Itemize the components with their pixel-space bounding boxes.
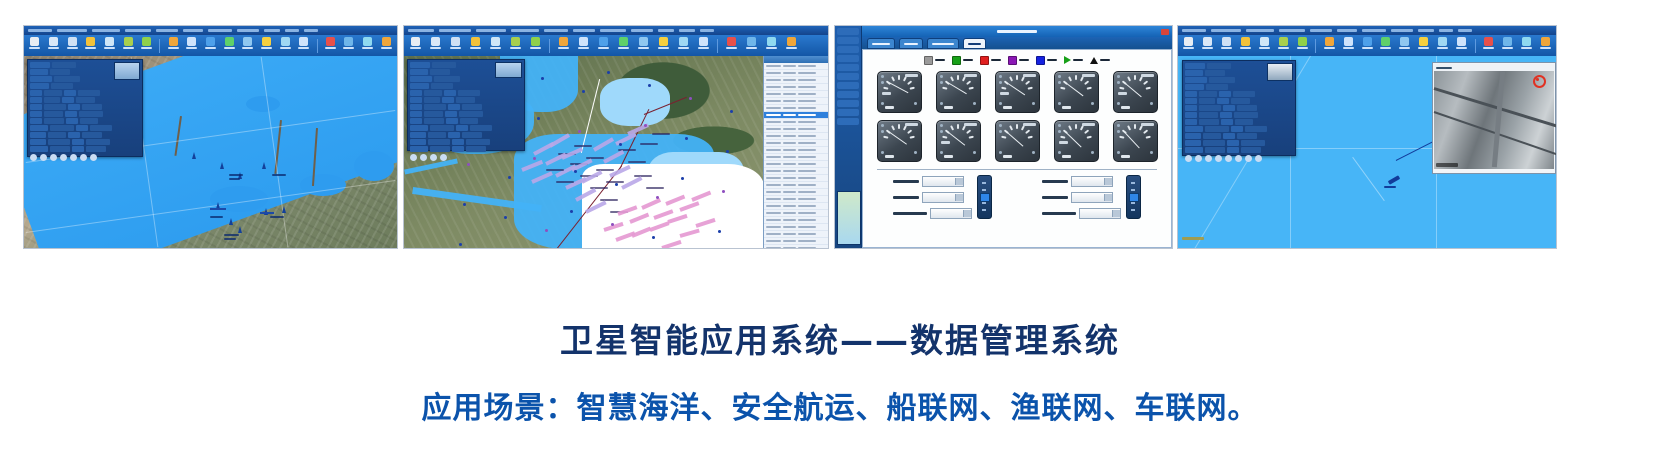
dialog-field-row bbox=[410, 118, 522, 124]
menu-item[interactable] bbox=[573, 29, 595, 32]
vessel-track-label bbox=[652, 133, 670, 135]
table-row[interactable] bbox=[764, 224, 828, 231]
toolbar-icon bbox=[142, 37, 151, 46]
dialog-icon-button[interactable] bbox=[80, 154, 87, 161]
ship-label bbox=[272, 174, 286, 176]
toolbar-button[interactable] bbox=[655, 36, 672, 55]
dialog-icon-button[interactable] bbox=[90, 154, 97, 161]
vessel-point-marker[interactable] bbox=[578, 130, 581, 133]
dialog-icon-button[interactable] bbox=[430, 154, 437, 161]
menu-item[interactable] bbox=[1362, 29, 1386, 32]
window-titlebar[interactable] bbox=[862, 26, 1172, 37]
table-row[interactable] bbox=[764, 238, 828, 245]
dialog-field-value bbox=[1209, 77, 1235, 83]
dialog-field-label bbox=[410, 139, 426, 145]
menu-item[interactable] bbox=[264, 29, 280, 32]
toolbar-button[interactable] bbox=[1238, 36, 1254, 55]
dialog-icon-button[interactable] bbox=[30, 154, 37, 161]
sidebar-item[interactable] bbox=[837, 91, 859, 98]
table-row[interactable] bbox=[764, 70, 828, 77]
cctv-inset[interactable] bbox=[1432, 62, 1556, 174]
sidebar-item[interactable] bbox=[837, 64, 859, 71]
close-icon[interactable] bbox=[1161, 29, 1169, 35]
toolbar-icon bbox=[599, 37, 608, 46]
sidebar-item[interactable] bbox=[837, 118, 859, 125]
dialog-icon-button[interactable] bbox=[1215, 155, 1222, 162]
table-row[interactable] bbox=[764, 168, 828, 175]
toolbar-button[interactable] bbox=[240, 36, 256, 55]
table-row[interactable] bbox=[764, 140, 828, 147]
ais-ship-marker[interactable] bbox=[192, 152, 196, 159]
vessel-point-marker[interactable] bbox=[619, 143, 622, 146]
vessel-list-table[interactable] bbox=[763, 56, 828, 248]
vessel-info-dialog[interactable] bbox=[1182, 60, 1296, 156]
own-ship-label bbox=[1384, 186, 1396, 188]
panel4-toolbar[interactable] bbox=[1178, 35, 1556, 57]
dialog-icon-button[interactable] bbox=[40, 154, 47, 161]
dialog-icon-button[interactable] bbox=[1195, 155, 1202, 162]
dialog-icon-button[interactable] bbox=[420, 154, 427, 161]
toolbar-button[interactable] bbox=[259, 36, 275, 55]
control-rows bbox=[893, 176, 972, 219]
toolbar-button[interactable] bbox=[221, 36, 237, 55]
vessel-info-dialog[interactable] bbox=[407, 59, 525, 151]
table-row[interactable] bbox=[764, 245, 828, 248]
toolbar-button[interactable] bbox=[1454, 36, 1470, 55]
menu-item[interactable] bbox=[28, 29, 52, 32]
toolbar-button-label bbox=[1202, 47, 1213, 49]
table-row[interactable] bbox=[764, 91, 828, 98]
toolbar-button[interactable] bbox=[1340, 36, 1356, 55]
toolbar-button[interactable] bbox=[1435, 36, 1451, 55]
panel-instrument-dashboard-window[interactable] bbox=[835, 26, 1172, 248]
dialog-icon-button[interactable] bbox=[410, 154, 417, 161]
analog-gauge[interactable] bbox=[936, 120, 981, 162]
vessel-point-marker[interactable] bbox=[681, 177, 684, 180]
vessel-info-dialog[interactable] bbox=[27, 59, 143, 157]
ais-ship-marker[interactable] bbox=[282, 206, 286, 213]
chevron-down-icon[interactable] bbox=[1104, 194, 1112, 201]
monitor-window[interactable] bbox=[861, 26, 1172, 248]
table-row[interactable] bbox=[764, 133, 828, 140]
analog-gauge[interactable] bbox=[1113, 71, 1158, 113]
dialog-field-value bbox=[1241, 140, 1265, 146]
table-cell bbox=[798, 156, 816, 158]
table-row[interactable] bbox=[764, 189, 828, 196]
menu-item[interactable] bbox=[631, 29, 653, 32]
panel4-menubar[interactable] bbox=[1178, 26, 1556, 35]
menu-item[interactable] bbox=[439, 29, 471, 32]
toolbar-button[interactable] bbox=[1397, 36, 1413, 55]
panel1-toolbar[interactable] bbox=[24, 35, 397, 57]
toolbar-button[interactable] bbox=[341, 36, 357, 55]
dialog-button-row[interactable] bbox=[1185, 155, 1293, 162]
menu-item[interactable] bbox=[237, 29, 259, 32]
table-row[interactable] bbox=[764, 147, 828, 154]
toolbar-button[interactable] bbox=[407, 36, 424, 55]
toolbar-button[interactable] bbox=[1416, 36, 1432, 55]
toolbar-button[interactable] bbox=[615, 36, 632, 55]
menu-item[interactable] bbox=[1439, 29, 1453, 32]
vertical-slider[interactable] bbox=[977, 175, 992, 219]
gauge-tick bbox=[1027, 87, 1032, 90]
table-row[interactable] bbox=[764, 217, 828, 224]
vessel-point-marker[interactable] bbox=[611, 223, 614, 226]
dialog-field-label bbox=[62, 97, 74, 103]
toolbar-button[interactable] bbox=[296, 36, 312, 55]
toolbar-button-label bbox=[618, 47, 629, 49]
toolbar-button[interactable] bbox=[763, 36, 780, 55]
toolbar-button[interactable] bbox=[1276, 36, 1292, 55]
dialog-field-label bbox=[30, 111, 42, 117]
toolbar-button[interactable] bbox=[595, 36, 612, 55]
menu-item[interactable] bbox=[511, 29, 539, 32]
sidebar-item[interactable] bbox=[837, 55, 859, 62]
toolbar-button[interactable] bbox=[1499, 36, 1515, 55]
table-row[interactable] bbox=[764, 77, 828, 84]
analog-gauge[interactable] bbox=[877, 120, 922, 162]
menu-item[interactable] bbox=[304, 29, 318, 32]
toolbar-button[interactable] bbox=[322, 36, 338, 55]
toolbar-button[interactable] bbox=[64, 36, 80, 55]
vessel-point-marker[interactable] bbox=[533, 157, 536, 160]
vessel-point-marker[interactable] bbox=[508, 176, 511, 179]
table-cell bbox=[798, 114, 816, 116]
dialog-field-value bbox=[424, 97, 440, 103]
menu-item[interactable] bbox=[92, 29, 120, 32]
control-dropdown[interactable] bbox=[922, 176, 964, 187]
analog-gauge[interactable] bbox=[1054, 120, 1099, 162]
menu-item[interactable] bbox=[183, 29, 203, 32]
toolbar-button[interactable] bbox=[695, 36, 712, 55]
cctv-video-frame[interactable] bbox=[1434, 71, 1554, 169]
vessel-point-marker[interactable] bbox=[615, 183, 618, 186]
toolbar-button[interactable] bbox=[1359, 36, 1375, 55]
analog-gauge[interactable] bbox=[1113, 120, 1158, 162]
gauge-value-label bbox=[964, 74, 977, 77]
menu-item[interactable] bbox=[1458, 29, 1472, 32]
gauge-tick bbox=[957, 75, 959, 80]
menu-item[interactable] bbox=[156, 29, 178, 32]
sidebar-item[interactable] bbox=[837, 100, 859, 107]
dialog-icon-button[interactable] bbox=[1255, 155, 1262, 162]
vessel-point-marker[interactable] bbox=[718, 230, 721, 233]
ais-ship-marker[interactable] bbox=[262, 162, 266, 169]
toolbar-button[interactable] bbox=[635, 36, 652, 55]
gauge-tick bbox=[1016, 124, 1018, 129]
chevron-down-icon[interactable] bbox=[963, 210, 971, 217]
menu-item[interactable] bbox=[544, 29, 568, 32]
dialog-icon-button[interactable] bbox=[60, 154, 67, 161]
gauge-tick bbox=[968, 136, 973, 139]
toolbar-button[interactable] bbox=[1537, 36, 1553, 55]
vessel-point-marker[interactable] bbox=[537, 117, 540, 120]
dialog-field-label bbox=[30, 125, 48, 131]
menu-item[interactable] bbox=[1211, 29, 1241, 32]
legend-blue-icon bbox=[1036, 56, 1045, 65]
chevron-down-icon[interactable] bbox=[955, 194, 963, 201]
toolbar-button[interactable] bbox=[360, 36, 376, 55]
vessel-point-marker[interactable] bbox=[648, 84, 651, 87]
vessel-point-marker[interactable] bbox=[467, 163, 470, 166]
gauge-indicator-led bbox=[1117, 130, 1120, 133]
vessel-point-marker[interactable] bbox=[722, 190, 725, 193]
dialog-field-label bbox=[30, 97, 42, 103]
slider-knob[interactable] bbox=[980, 193, 990, 202]
toolbar-icon bbox=[1325, 37, 1334, 46]
vessel-point-marker[interactable] bbox=[459, 243, 462, 246]
vessel-point-marker[interactable] bbox=[574, 170, 577, 173]
dialog-field-label bbox=[1185, 105, 1197, 111]
menu-item[interactable] bbox=[600, 29, 626, 32]
sidebar-item[interactable] bbox=[837, 28, 859, 35]
window-tabs[interactable] bbox=[862, 37, 1172, 49]
ais-ship-marker[interactable] bbox=[229, 218, 233, 225]
dialog-field-value bbox=[1205, 147, 1225, 153]
control-dropdown[interactable] bbox=[930, 208, 972, 219]
toolbar-icon bbox=[531, 37, 540, 46]
toolbar-button[interactable] bbox=[1257, 36, 1273, 55]
tab-1[interactable] bbox=[867, 38, 895, 49]
toolbar-button[interactable] bbox=[723, 36, 740, 55]
panel2-toolbar[interactable] bbox=[404, 35, 828, 57]
toolbar-button[interactable] bbox=[507, 36, 524, 55]
panel-regional-chart-vessel-density[interactable] bbox=[404, 26, 828, 248]
menu-item[interactable] bbox=[1418, 29, 1434, 32]
vessel-point-marker[interactable] bbox=[582, 90, 585, 93]
toolbar-icon bbox=[1457, 37, 1466, 46]
panel2-map-canvas[interactable] bbox=[404, 56, 828, 248]
table-row[interactable] bbox=[764, 84, 828, 91]
vessel-point-marker[interactable] bbox=[545, 229, 548, 232]
toolbar-button[interactable] bbox=[27, 36, 43, 55]
toolbar-button[interactable] bbox=[743, 36, 760, 55]
control-dropdown[interactable] bbox=[1079, 208, 1121, 219]
cctv-timestamp bbox=[1436, 163, 1458, 167]
dialog-button-row[interactable] bbox=[410, 154, 522, 161]
panel-satellite-port-ais-view[interactable] bbox=[24, 26, 397, 248]
tab-4[interactable] bbox=[963, 38, 986, 49]
toolbar-button[interactable] bbox=[184, 36, 200, 55]
dialog-field-label bbox=[30, 146, 48, 152]
menu-item[interactable] bbox=[1246, 29, 1274, 32]
menu-item[interactable] bbox=[285, 29, 299, 32]
sidebar-item[interactable] bbox=[837, 109, 859, 116]
gauge-tick bbox=[1025, 129, 1030, 134]
menu-item[interactable] bbox=[57, 29, 87, 32]
chevron-down-icon[interactable] bbox=[1104, 178, 1112, 185]
vessel-point-marker[interactable] bbox=[652, 236, 655, 239]
table-cell bbox=[766, 233, 781, 235]
control-label bbox=[893, 180, 919, 183]
panel1-menubar[interactable] bbox=[24, 26, 397, 35]
dialog-field-label bbox=[448, 104, 460, 110]
analog-gauge[interactable] bbox=[877, 71, 922, 113]
menu-item[interactable] bbox=[1391, 29, 1413, 32]
dialog-icon-button[interactable] bbox=[1245, 155, 1252, 162]
table-row[interactable] bbox=[764, 154, 828, 161]
gauge-value-label bbox=[1141, 74, 1154, 77]
toolbar-button[interactable] bbox=[1321, 36, 1337, 55]
toolbar-button[interactable] bbox=[1219, 36, 1235, 55]
toolbar-button[interactable] bbox=[165, 36, 181, 55]
toolbar-button[interactable] bbox=[1378, 36, 1394, 55]
menu-item[interactable] bbox=[125, 29, 151, 32]
toolbar-button[interactable] bbox=[783, 36, 800, 55]
toolbar-button[interactable] bbox=[277, 36, 293, 55]
sidebar-item[interactable] bbox=[837, 82, 859, 89]
legend-gray-icon bbox=[924, 56, 933, 65]
panel2-menubar[interactable] bbox=[404, 26, 828, 35]
table-cell bbox=[766, 184, 781, 186]
vessel-point-marker[interactable] bbox=[607, 71, 610, 74]
vessel-point-marker[interactable] bbox=[689, 97, 692, 100]
vessel-point-marker[interactable] bbox=[570, 210, 573, 213]
dialog-field-label bbox=[30, 139, 46, 145]
table-row[interactable] bbox=[764, 112, 828, 119]
toolbar-icon bbox=[68, 37, 77, 46]
ais-ship-marker[interactable] bbox=[238, 226, 242, 233]
gauge-tick bbox=[1060, 136, 1065, 139]
table-row[interactable] bbox=[764, 119, 828, 126]
dialog-field-row bbox=[1185, 105, 1293, 111]
dialog-field-row bbox=[1185, 133, 1293, 139]
dialog-button-row[interactable] bbox=[30, 154, 140, 161]
vessel-point-marker[interactable] bbox=[726, 150, 729, 153]
menu-item[interactable] bbox=[408, 29, 434, 32]
analog-gauge[interactable] bbox=[995, 71, 1040, 113]
toolbar-button[interactable] bbox=[102, 36, 118, 55]
table-row[interactable] bbox=[764, 105, 828, 112]
table-row[interactable] bbox=[764, 175, 828, 182]
analog-gauge[interactable] bbox=[936, 71, 981, 113]
analog-gauge[interactable] bbox=[995, 120, 1040, 162]
sidebar-item[interactable] bbox=[837, 37, 859, 44]
table-row[interactable] bbox=[764, 161, 828, 168]
toolbar-button[interactable] bbox=[120, 36, 136, 55]
dialog-field-label bbox=[30, 62, 50, 68]
table-row[interactable] bbox=[764, 210, 828, 217]
table-row[interactable] bbox=[764, 196, 828, 203]
control-row bbox=[893, 176, 972, 187]
dialog-icon-button[interactable] bbox=[1235, 155, 1242, 162]
toolbar-button[interactable] bbox=[487, 36, 504, 55]
slider-knob[interactable] bbox=[1129, 193, 1139, 202]
menu-item[interactable] bbox=[208, 29, 232, 32]
table-row[interactable] bbox=[764, 231, 828, 238]
menu-item[interactable] bbox=[679, 29, 695, 32]
tab-3[interactable] bbox=[927, 38, 959, 49]
menu-item[interactable] bbox=[700, 29, 714, 32]
toolbar-button[interactable] bbox=[575, 36, 592, 55]
toolbar-button[interactable] bbox=[447, 36, 464, 55]
toolbar-button[interactable] bbox=[378, 36, 394, 55]
table-row[interactable] bbox=[764, 98, 828, 105]
panel-nautical-chart-with-cctv[interactable] bbox=[1178, 26, 1556, 248]
toolbar-button[interactable] bbox=[83, 36, 99, 55]
ais-ship-marker[interactable] bbox=[220, 162, 224, 169]
chevron-down-icon[interactable] bbox=[1112, 210, 1120, 217]
panel4-chart-canvas[interactable] bbox=[1178, 56, 1556, 248]
sidebar-item[interactable] bbox=[837, 73, 859, 80]
vessel-point-marker[interactable] bbox=[504, 216, 507, 219]
dialog-icon-button[interactable] bbox=[70, 154, 77, 161]
toolbar-button-label bbox=[1380, 47, 1391, 49]
menu-item[interactable] bbox=[1337, 29, 1357, 32]
vessel-point-marker[interactable] bbox=[463, 203, 466, 206]
toolbar-button[interactable] bbox=[1200, 36, 1216, 55]
toolbar-button[interactable] bbox=[527, 36, 544, 55]
dialog-icon-button[interactable] bbox=[440, 154, 447, 161]
vessel-point-marker[interactable] bbox=[644, 124, 647, 127]
menu-item[interactable] bbox=[658, 29, 674, 32]
vertical-slider[interactable] bbox=[1126, 175, 1141, 219]
panel1-map-canvas[interactable] bbox=[24, 56, 397, 248]
table-row[interactable] bbox=[764, 182, 828, 189]
toolbar-button[interactable] bbox=[203, 36, 219, 55]
vessel-point-marker[interactable] bbox=[541, 77, 544, 80]
toolbar-button[interactable] bbox=[1480, 36, 1496, 55]
toolbar-button-label bbox=[298, 47, 309, 49]
toolbar-button[interactable] bbox=[555, 36, 572, 55]
control-dropdown[interactable] bbox=[922, 192, 964, 203]
toolbar-button[interactable] bbox=[1294, 36, 1310, 55]
dialog-icon-button[interactable] bbox=[1185, 155, 1192, 162]
control-dropdown[interactable] bbox=[1071, 192, 1113, 203]
menu-item[interactable] bbox=[1182, 29, 1206, 32]
gauge-unit-label bbox=[941, 141, 950, 144]
deck-structure bbox=[1492, 71, 1505, 167]
toolbar-button[interactable] bbox=[427, 36, 444, 55]
minimap[interactable] bbox=[837, 191, 861, 245]
gauge-tick bbox=[1119, 87, 1124, 90]
vessel-point-marker[interactable] bbox=[685, 137, 688, 140]
dialog-field-label bbox=[1185, 77, 1207, 83]
toolbar-button[interactable] bbox=[467, 36, 484, 55]
toolbar-icon bbox=[299, 37, 308, 46]
sidebar-item[interactable] bbox=[837, 46, 859, 53]
vessel-point-marker[interactable] bbox=[730, 110, 733, 113]
toolbar-button[interactable] bbox=[1181, 36, 1197, 55]
dialog-icon-button[interactable] bbox=[1225, 155, 1232, 162]
toolbar-button[interactable] bbox=[139, 36, 155, 55]
cctv-header bbox=[1434, 64, 1554, 71]
menu-item[interactable] bbox=[476, 29, 506, 32]
dialog-field-label bbox=[1220, 112, 1232, 118]
toolbar-button[interactable] bbox=[46, 36, 62, 55]
control-dropdown[interactable] bbox=[1071, 176, 1113, 187]
menu-item[interactable] bbox=[1279, 29, 1305, 32]
menu-item[interactable] bbox=[1310, 29, 1332, 32]
dialog-field-label bbox=[452, 139, 464, 145]
analog-gauge[interactable] bbox=[1054, 71, 1099, 113]
control-area[interactable] bbox=[863, 175, 1171, 219]
toolbar-button[interactable] bbox=[675, 36, 692, 55]
toolbar-button[interactable] bbox=[1518, 36, 1534, 55]
vessel-point-marker[interactable] bbox=[656, 196, 659, 199]
chevron-down-icon[interactable] bbox=[955, 178, 963, 185]
dialog-field-label bbox=[410, 83, 429, 89]
table-row[interactable] bbox=[764, 203, 828, 210]
toolbar-button-label bbox=[85, 47, 96, 49]
dialog-icon-button[interactable] bbox=[50, 154, 57, 161]
table-row[interactable] bbox=[764, 126, 828, 133]
table-row[interactable] bbox=[764, 63, 828, 70]
tab-2[interactable] bbox=[899, 38, 923, 49]
table-cell bbox=[766, 128, 781, 130]
dialog-icon-button[interactable] bbox=[1205, 155, 1212, 162]
nav-sidebar[interactable] bbox=[835, 26, 861, 248]
